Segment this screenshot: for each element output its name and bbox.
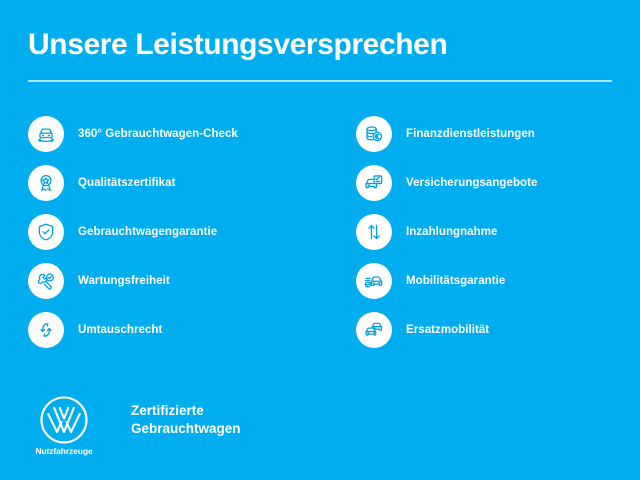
promise-item-inzahlungnahme[interactable]: Inzahlungnahme: [356, 214, 612, 250]
vw-logo: [39, 395, 89, 445]
promise-label: Qualitätszertifikat: [78, 177, 175, 189]
footer-text: Zertifizierte Gebrauchtwagen: [131, 402, 241, 438]
promise-label: Versicherungsangebote: [406, 177, 537, 189]
promise-item-gebrauchtwagen-check[interactable]: 360° Gebrauchtwagen-Check: [28, 116, 320, 152]
promise-item-ersatzmobilitaet[interactable]: Ersatzmobilität: [356, 312, 612, 348]
wrench-check-icon: [28, 263, 64, 299]
quality-rosette-icon: [28, 165, 64, 201]
promise-label: Gebrauchtwagengarantie: [78, 226, 217, 238]
coins-euro-icon: [356, 116, 392, 152]
promises-column-left: 360° Gebrauchtwagen-Check Qualitätszerti…: [28, 116, 320, 348]
promise-item-umtauschrecht[interactable]: Umtauschrecht: [28, 312, 320, 348]
header: Unsere Leistungsversprechen: [28, 28, 612, 82]
promise-label: Ersatzmobilität: [406, 324, 489, 336]
promise-label: Wartungsfreiheit: [78, 275, 170, 287]
footer-text-line-1: Zertifizierte: [131, 402, 241, 420]
exchange-arrows-icon: [28, 312, 64, 348]
up-down-arrows-icon: [356, 214, 392, 250]
car-checklist-icon: [356, 165, 392, 201]
promise-item-mobilitaetsgarantie[interactable]: Mobilitätsgarantie: [356, 263, 612, 299]
promise-label: Umtauschrecht: [78, 324, 162, 336]
car-360-check-icon: [28, 116, 64, 152]
footer: Nutzfahrzeuge Zertifizierte Gebrauchtwag…: [28, 395, 241, 456]
promise-item-versicherungsangebote[interactable]: Versicherungsangebote: [356, 165, 612, 201]
promise-item-gebrauchtwagengarantie[interactable]: Gebrauchtwagengarantie: [28, 214, 320, 250]
promise-label: 360° Gebrauchtwagen-Check: [78, 128, 238, 140]
promise-label: Finanzdienstleistungen: [406, 128, 535, 140]
car-speed-check-icon: [356, 263, 392, 299]
promises-grid: 360° Gebrauchtwagen-Check Qualitätszerti…: [28, 116, 612, 348]
two-cars-icon: [356, 312, 392, 348]
promise-label: Inzahlungnahme: [406, 226, 497, 238]
promise-label: Mobilitätsgarantie: [406, 275, 505, 287]
brand-logo-subtitle: Nutzfahrzeuge: [35, 446, 92, 456]
promises-column-right: Finanzdienstleistungen Versicherungsange…: [320, 116, 612, 348]
footer-text-line-2: Gebrauchtwagen: [131, 420, 241, 438]
brand-logo-block: Nutzfahrzeuge: [28, 395, 100, 456]
promise-item-finanzdienstleistungen[interactable]: Finanzdienstleistungen: [356, 116, 612, 152]
header-divider: [28, 80, 612, 82]
shield-check-icon: [28, 214, 64, 250]
page-title: Unsere Leistungsversprechen: [28, 28, 612, 61]
slide-root: Unsere Leistungsversprechen 360° Gebrauc…: [0, 0, 640, 480]
promise-item-qualitaetszertifikat[interactable]: Qualitätszertifikat: [28, 165, 320, 201]
promise-item-wartungsfreiheit[interactable]: Wartungsfreiheit: [28, 263, 320, 299]
